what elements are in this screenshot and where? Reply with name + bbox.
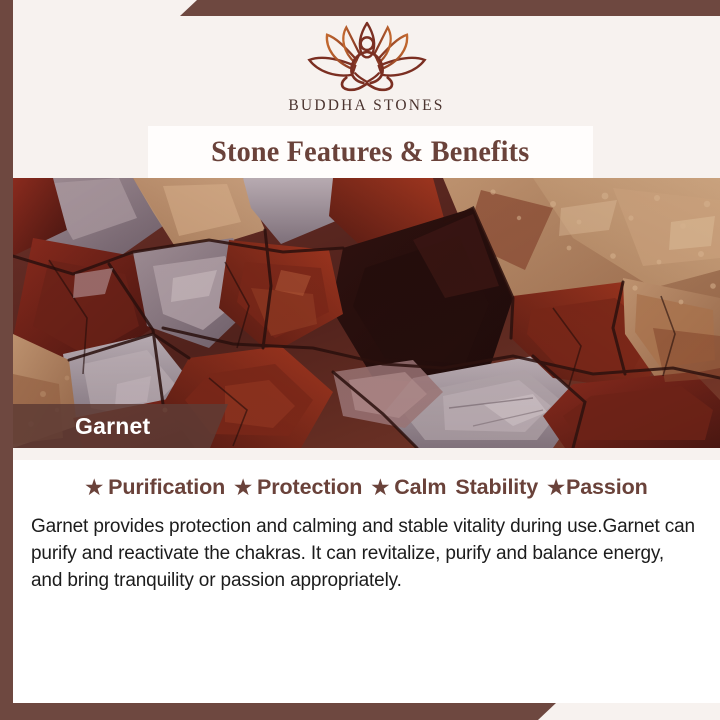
brand-logo: BUDDHA STONES bbox=[13, 20, 720, 115]
feature-label: Stability bbox=[455, 475, 538, 500]
brand-name: BUDDHA STONES bbox=[288, 97, 444, 115]
stone-description: Garnet provides protection and calming a… bbox=[31, 514, 696, 594]
card-top-divider bbox=[13, 448, 720, 460]
stone-info-poster: BUDDHA STONES Stone Features & Benefits bbox=[0, 0, 720, 720]
star-icon: ★ bbox=[234, 478, 252, 498]
bottom-accent-bar bbox=[0, 703, 556, 720]
feature-list: ★ Purification ★ Protection ★ Calm ★ Sta… bbox=[13, 475, 720, 500]
feature-label: Calm bbox=[394, 475, 446, 500]
left-accent-bar bbox=[0, 0, 13, 720]
stone-name-text: Garnet bbox=[75, 413, 150, 440]
star-icon: ★ bbox=[547, 478, 565, 498]
feature-label: Passion bbox=[566, 475, 648, 500]
poster-header: BUDDHA STONES Stone Features & Benefits bbox=[13, 0, 720, 178]
star-icon: ★ bbox=[371, 478, 389, 498]
feature-item: ★ Stability bbox=[455, 475, 538, 500]
page-title: Stone Features & Benefits bbox=[211, 135, 529, 169]
feature-item: ★ Protection bbox=[234, 475, 362, 500]
star-icon: ★ bbox=[85, 478, 103, 498]
feature-item: ★ Purification bbox=[85, 475, 225, 500]
lotus-meditation-icon bbox=[291, 20, 443, 94]
content-card: ★ Purification ★ Protection ★ Calm ★ Sta… bbox=[13, 448, 720, 703]
feature-item: ★ Calm bbox=[371, 475, 446, 500]
feature-label: Purification bbox=[108, 475, 225, 500]
stone-name-label: Garnet bbox=[13, 404, 228, 448]
feature-item: ★ Passion bbox=[547, 475, 648, 500]
title-banner: Stone Features & Benefits bbox=[148, 126, 593, 178]
feature-label: Protection bbox=[257, 475, 362, 500]
